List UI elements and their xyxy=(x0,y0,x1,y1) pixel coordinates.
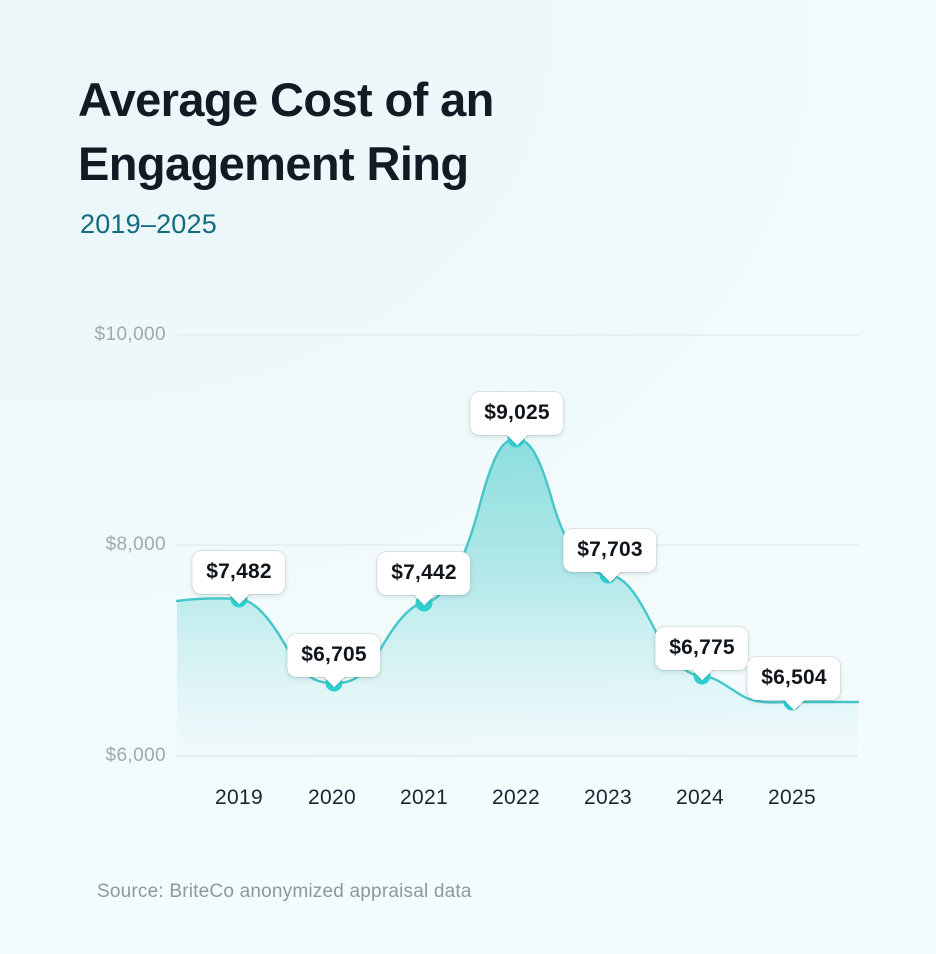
tooltip-notch-icon xyxy=(228,593,250,604)
tooltip-notch-icon xyxy=(323,676,345,687)
value-label-text: $7,482 xyxy=(206,560,271,583)
y-tick-label: $10,000 xyxy=(95,324,166,346)
value-label-text: $7,442 xyxy=(391,561,456,584)
x-tick-label-2019: 2019 xyxy=(215,786,263,810)
tooltip-notch-icon xyxy=(783,699,805,710)
x-tick-label-2021: 2021 xyxy=(400,786,448,810)
value-label-2020[interactable]: $6,705 xyxy=(287,634,380,677)
source-note: Source: BriteCo anonymized appraisal dat… xyxy=(97,881,472,903)
value-label-2025[interactable]: $6,504 xyxy=(747,657,840,700)
data-point-markers xyxy=(231,431,801,711)
data-point[interactable] xyxy=(326,675,343,692)
data-point[interactable] xyxy=(416,595,433,612)
tooltip-notch-icon xyxy=(691,669,713,680)
area-fill xyxy=(177,439,858,756)
y-tick-label: $8,000 xyxy=(105,534,166,556)
data-point[interactable] xyxy=(600,567,617,584)
page-subtitle: 2019–2025 xyxy=(80,209,698,240)
x-tick-label-2022: 2022 xyxy=(492,786,540,810)
value-label-2022[interactable]: $9,025 xyxy=(470,392,563,435)
data-point[interactable] xyxy=(784,694,801,711)
x-tick-label-2024: 2024 xyxy=(676,786,724,810)
data-point[interactable] xyxy=(231,591,248,608)
value-label-text: $7,703 xyxy=(577,538,642,561)
infographic-canvas: Average Cost of an Engagement Ring 2019–… xyxy=(0,0,936,954)
tooltip-notch-icon xyxy=(599,571,621,582)
tooltip-notch-icon xyxy=(506,434,528,445)
series-line xyxy=(177,439,858,702)
value-label-2019[interactable]: $7,482 xyxy=(192,551,285,594)
x-tick-label-2025: 2025 xyxy=(768,786,816,810)
series-engagement-ring-cost xyxy=(177,439,858,756)
gridlines xyxy=(177,335,858,756)
data-point[interactable] xyxy=(694,668,711,685)
x-tick-label-2023: 2023 xyxy=(584,786,632,810)
header: Average Cost of an Engagement Ring 2019–… xyxy=(78,68,698,240)
x-axis: 2019 2020 2021 2022 2023 2024 2025 xyxy=(0,786,936,820)
value-label-text: $6,504 xyxy=(761,666,826,689)
value-label-text: $9,025 xyxy=(484,401,549,424)
value-label-2023[interactable]: $7,703 xyxy=(563,529,656,572)
y-tick-label: $6,000 xyxy=(105,745,166,767)
value-label-2024[interactable]: $6,775 xyxy=(655,627,748,670)
value-label-text: $6,775 xyxy=(669,636,734,659)
value-label-text: $6,705 xyxy=(301,643,366,666)
page-title: Average Cost of an Engagement Ring xyxy=(78,68,698,196)
x-tick-label-2020: 2020 xyxy=(308,786,356,810)
value-label-2021[interactable]: $7,442 xyxy=(377,552,470,595)
tooltip-notch-icon xyxy=(413,594,435,605)
data-point[interactable] xyxy=(508,431,525,448)
